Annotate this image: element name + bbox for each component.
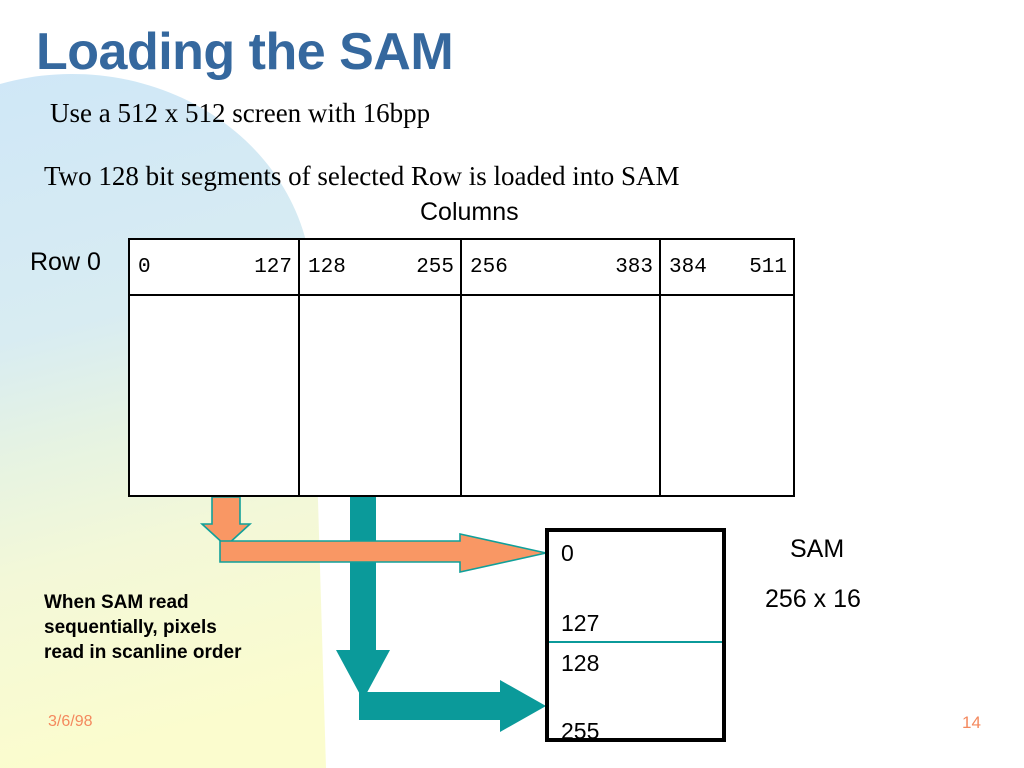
- grid-cell-segment-3: 384 511: [661, 240, 793, 294]
- grid-body-cell-3: [661, 296, 793, 495]
- sam-value-top-start: 0: [561, 540, 574, 567]
- page-number: 14: [962, 713, 981, 733]
- subtitle-line-screen-spec: Use a 512 x 512 screen with 16bpp: [50, 98, 430, 129]
- scanline-note: When SAM read sequentially, pixels read …: [44, 590, 324, 665]
- grid-cell-start-value: 128: [308, 256, 346, 279]
- scanline-note-line-2: sequentially, pixels: [44, 615, 324, 640]
- sam-title-label: SAM: [790, 535, 844, 564]
- grid-cell-segment-0: 0 127: [130, 240, 300, 294]
- grid-cell-segment-2: 256 383: [462, 240, 661, 294]
- page-title: Loading the SAM: [36, 22, 453, 82]
- sam-divider-line: [549, 641, 722, 643]
- grid-cell-segment-1: 128 255: [300, 240, 462, 294]
- scanline-note-line-3: read in scanline order: [44, 640, 324, 665]
- sam-value-bottom-end: 255: [561, 718, 599, 745]
- sam-size-label: 256 x 16: [765, 585, 861, 614]
- grid-cell-end-value: 127: [254, 256, 292, 279]
- grid-cell-end-value: 255: [416, 256, 454, 279]
- grid-cell-start-value: 384: [669, 256, 707, 279]
- grid-body-cell-0: [130, 296, 300, 495]
- columns-axis-label: Columns: [420, 198, 519, 227]
- grid-header-row: 0 127 128 255 256 383 384 511: [130, 240, 793, 296]
- sam-buffer-box: 0 127 128 255: [545, 528, 726, 742]
- grid-body-row: [130, 296, 793, 495]
- sam-value-bottom-start: 128: [561, 650, 599, 677]
- grid-cell-start-value: 256: [470, 256, 508, 279]
- grid-cell-start-value: 0: [138, 256, 151, 279]
- footer-date: 3/6/98: [48, 713, 92, 731]
- scanline-note-line-1: When SAM read: [44, 590, 324, 615]
- row-axis-label: Row 0: [30, 248, 101, 277]
- memory-row-grid: 0 127 128 255 256 383 384 511: [128, 238, 795, 497]
- grid-cell-end-value: 511: [749, 256, 787, 279]
- subtitle-line-segment-spec: Two 128 bit segments of selected Row is …: [44, 161, 680, 192]
- slide-canvas: Loading the SAM Use a 512 x 512 screen w…: [0, 0, 1024, 768]
- sam-value-top-end: 127: [561, 610, 599, 637]
- grid-body-cell-1: [300, 296, 462, 495]
- grid-cell-end-value: 383: [615, 256, 653, 279]
- grid-body-cell-2: [462, 296, 661, 495]
